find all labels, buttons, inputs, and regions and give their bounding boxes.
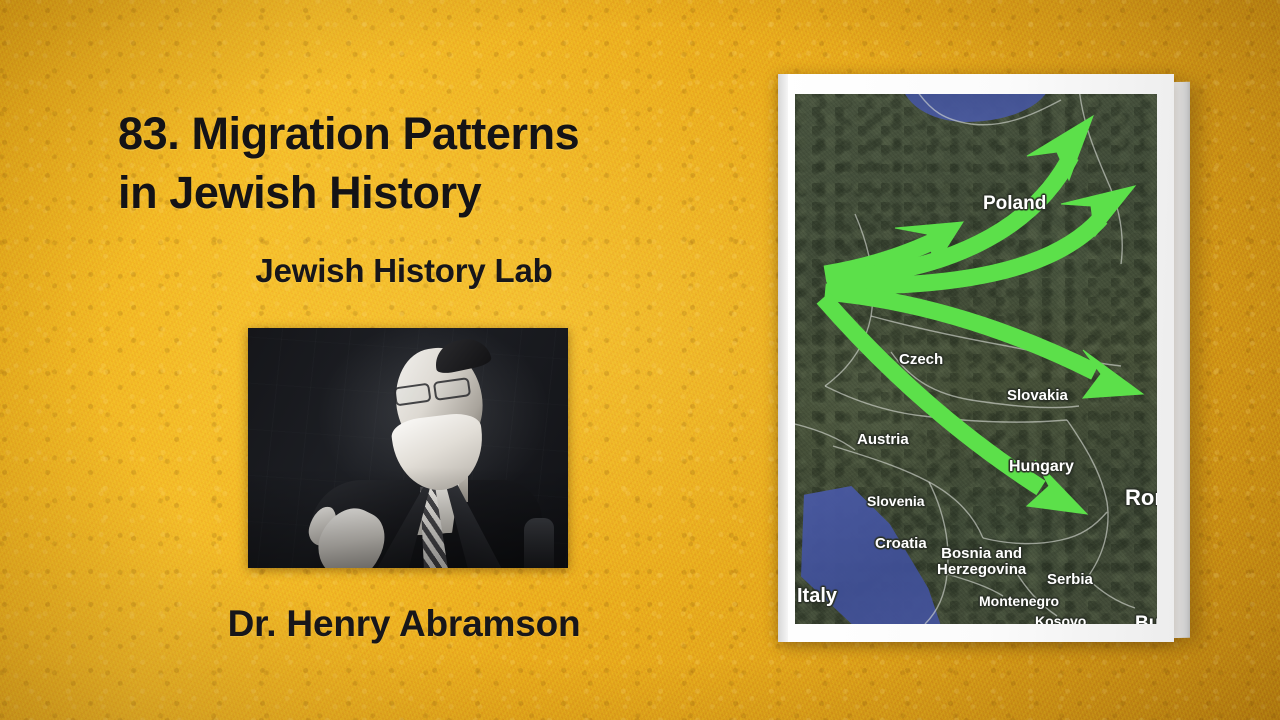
map-label-bosnia-and-herzegovina: Bosnia and Herzegovina (937, 546, 1026, 578)
map-label-bulgaria: Bul (1135, 614, 1157, 624)
presenter-name: Dr. Henry Abramson (118, 603, 690, 645)
title-line-1: 83. Migration Patterns (118, 108, 579, 159)
map-label-serbia: Serbia (1047, 572, 1093, 588)
book-cover: Poland Czech Slovakia Austria Hungary Sl… (778, 74, 1174, 642)
map-label-montenegro: Montenegro (979, 594, 1059, 609)
map-label-slovakia: Slovakia (1007, 388, 1068, 404)
map-label-poland: Poland (983, 194, 1046, 215)
slide-title: 83. Migration Patterns in Jewish History (118, 104, 738, 223)
presenter-portrait (248, 328, 568, 568)
map-image: Poland Czech Slovakia Austria Hungary Sl… (795, 94, 1157, 624)
title-line-2: in Jewish History (118, 163, 738, 222)
map-label-group: Poland Czech Slovakia Austria Hungary Sl… (795, 94, 1157, 624)
map-label-italy: Italy (797, 586, 837, 608)
map-label-slovenia: Slovenia (867, 494, 925, 509)
map-label-romania: Rom (1125, 486, 1157, 510)
book-spine (778, 74, 788, 642)
map-label-austria: Austria (857, 432, 909, 448)
portrait-shading (248, 328, 568, 568)
map-label-czech: Czech (899, 352, 943, 368)
map-label-croatia: Croatia (875, 536, 927, 552)
map-label-kosovo: Kosovo (1035, 614, 1086, 624)
slide-subtitle: Jewish History Lab (118, 252, 690, 290)
map-label-hungary: Hungary (1009, 458, 1074, 475)
book-mockup: Poland Czech Slovakia Austria Hungary Sl… (778, 74, 1206, 644)
presentation-slide: 83. Migration Patterns in Jewish History… (0, 0, 1280, 720)
